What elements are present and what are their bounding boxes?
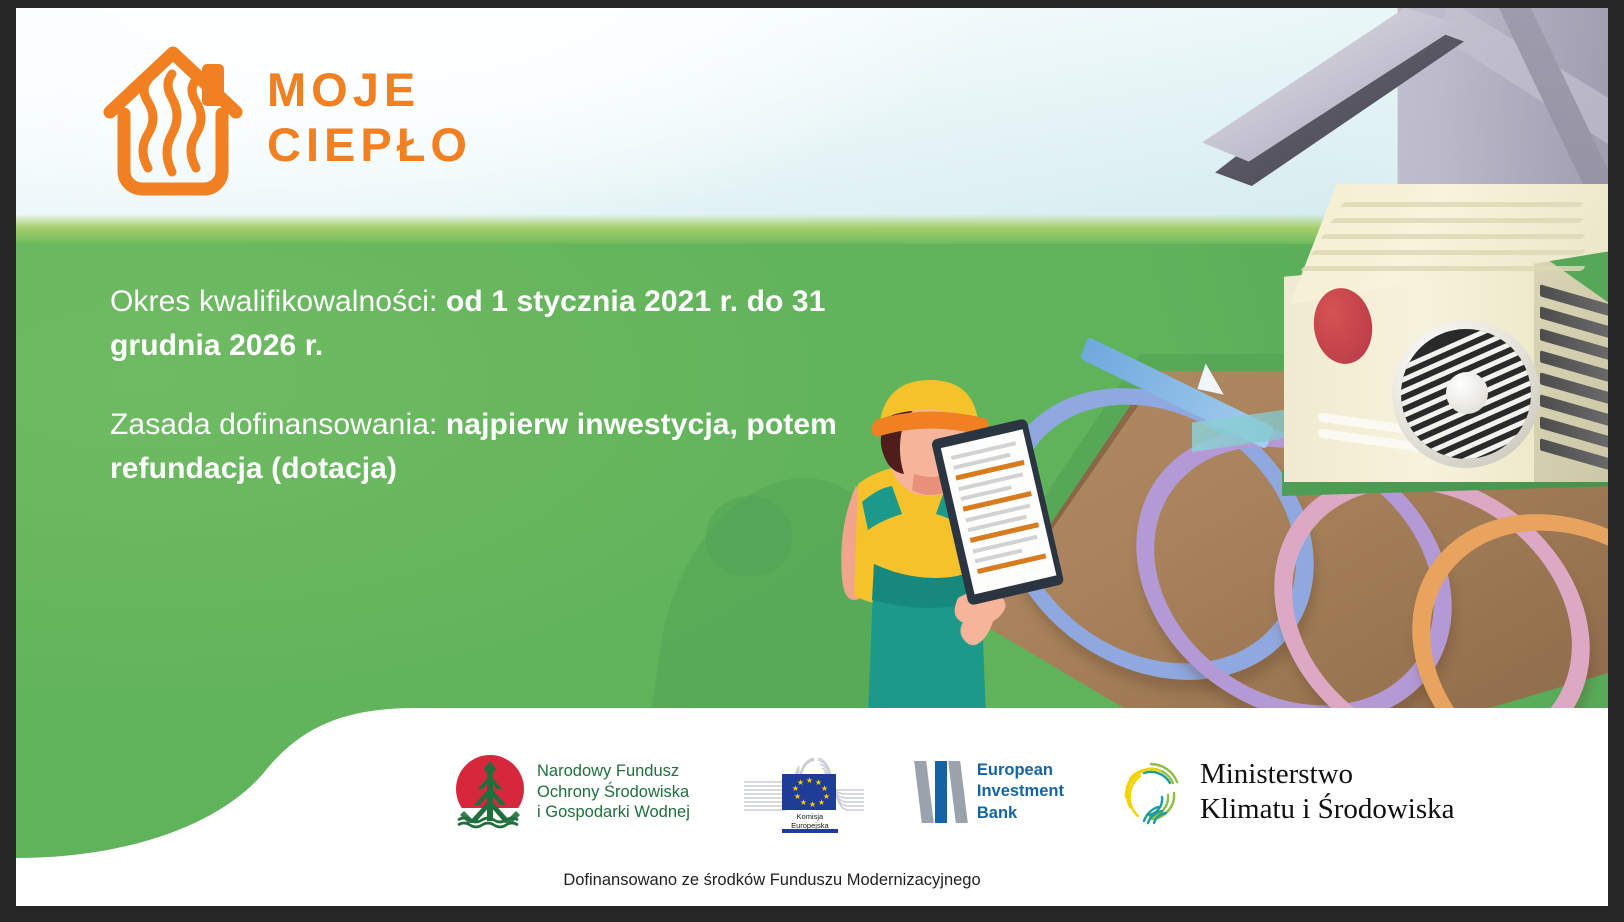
brand-line-2: CIEPŁO — [267, 117, 472, 172]
logo-european-investment-bank[interactable]: European Investment Bank — [918, 760, 1064, 824]
logo-ministerstwo-klimatu[interactable]: Ministerstwo Klimatu i Środowiska — [1118, 757, 1455, 827]
eib-line-3: Bank — [977, 803, 1064, 824]
footer-content: Narodowy Fundusz Ochrony Środowiska i Go… — [16, 708, 1608, 906]
worker-shadow-head — [706, 496, 792, 576]
logo-ministry-text: Ministerstwo Klimatu i Środowiska — [1200, 757, 1455, 827]
logo-eib-text: European Investment Bank — [977, 760, 1064, 824]
copy-label-1: Okres kwalifikowalności: — [110, 285, 446, 318]
slide-frame: Okres kwalifikowalności: od 1 stycznia 2… — [0, 0, 1624, 922]
brand-wordmark: MOJE CIEPŁO — [267, 62, 472, 173]
brand-line-1: MOJE — [267, 62, 472, 117]
nfosigw-line-3: i Gospodarki Wodnej — [537, 802, 690, 823]
nfosigw-line-1: Narodowy Fundusz — [537, 761, 690, 782]
eib-line-2: Investment — [977, 781, 1064, 802]
ministry-line-2: Klimatu i Środowiska — [1200, 792, 1455, 827]
eu-rule — [782, 829, 838, 833]
logo-nfosigw[interactable]: Narodowy Fundusz Ochrony Środowiska i Go… — [456, 755, 690, 829]
outdoor-heat-pump-unit-icon — [1284, 184, 1608, 484]
eu-caption-line-1: Komisja — [782, 812, 838, 821]
ministry-line-1: Ministerstwo — [1200, 757, 1455, 792]
logo-european-commission[interactable]: ★ ★ ★ ★ ★ ★ ★ ★ ★ ★ Komisja Europejska — [744, 750, 864, 834]
heat-pump-side-vents — [1540, 296, 1608, 476]
eib-bars-icon — [918, 761, 964, 823]
nfosigw-line-2: Ochrony Środowiska — [537, 782, 690, 803]
eu-caption: Komisja Europejska — [782, 812, 838, 831]
copy-block-2: Zasada dofinansowania: najpierw inwestyc… — [110, 403, 850, 490]
logo-nfosigw-text: Narodowy Fundusz Ochrony Środowiska i Go… — [537, 761, 690, 824]
ministry-swirl-icon — [1118, 759, 1184, 825]
heat-pump-top-louvres — [1290, 184, 1608, 304]
headline-copy: Okres kwalifikowalności: od 1 stycznia 2… — [110, 280, 850, 490]
slide-canvas: Okres kwalifikowalności: od 1 stycznia 2… — [16, 8, 1608, 906]
copy-block-1: Okres kwalifikowalności: od 1 stycznia 2… — [110, 280, 850, 367]
footer-tagline: Dofinansowano ze środków Funduszu Modern… — [16, 871, 1608, 890]
house-with-heat-waves-icon — [102, 40, 244, 200]
eib-line-1: European — [977, 760, 1064, 781]
eu-flag: ★ ★ ★ ★ ★ ★ ★ ★ ★ ★ — [782, 774, 836, 810]
brand-logo[interactable]: MOJE CIEPŁO — [102, 40, 522, 202]
copy-label-2: Zasada dofinansowania: — [110, 408, 446, 441]
footer-tagline-text: Dofinansowano ze środków Funduszu Modern… — [563, 871, 980, 889]
footer-logo-row: Narodowy Fundusz Ochrony Środowiska i Go… — [456, 744, 1516, 840]
nfosigw-logo-icon — [456, 755, 524, 829]
heat-pump-fan-hub — [1446, 372, 1488, 414]
